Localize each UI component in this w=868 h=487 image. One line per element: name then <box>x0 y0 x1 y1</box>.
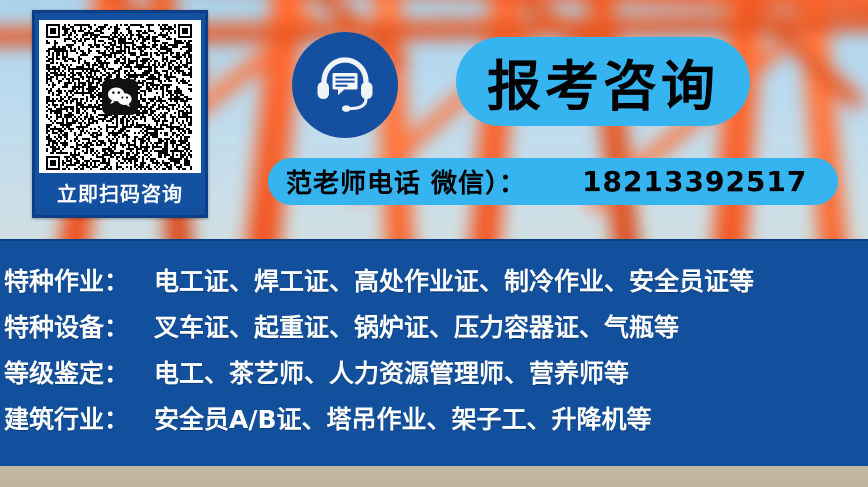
qr-caption: 立即扫码咨询 <box>57 173 183 215</box>
course-list-panel: 特种作业：电工证、焊工证、高处作业证、制冷作业、安全员证等特种设备：叉车证、起重… <box>0 239 868 466</box>
course-category-label: 等级鉴定： <box>4 351 154 397</box>
cta-label: 报考咨询 <box>487 42 719 121</box>
course-items-list: 电工、茶艺师、人力资源管理师、营养师等 <box>154 351 629 397</box>
promo-banner: 立即扫码咨询 报考咨询 范老师电话 微信）： 18213392517 <box>0 0 868 487</box>
cta-button[interactable]: 报考咨询 <box>456 37 750 126</box>
course-category-row: 建筑行业：安全员A/B证、塔吊作业、架子工、升降机等 <box>4 397 868 443</box>
headset-support-icon <box>292 32 398 138</box>
contact-pill[interactable]: 范老师电话 微信）： 18213392517 <box>268 158 838 205</box>
course-category-label: 特种设备： <box>4 305 154 351</box>
course-category-label: 建筑行业： <box>4 397 154 443</box>
course-category-row: 特种设备：叉车证、起重证、锅炉证、压力容器证、气瓶等 <box>4 305 868 351</box>
qr-card[interactable]: 立即扫码咨询 <box>32 10 208 218</box>
bottom-photo-strip <box>0 466 868 487</box>
course-items-list: 叉车证、起重证、锅炉证、压力容器证、气瓶等 <box>154 305 679 351</box>
course-items-list: 安全员A/B证、塔吊作业、架子工、升降机等 <box>154 397 652 443</box>
contact-phone-number[interactable]: 18213392517 <box>582 165 807 198</box>
course-category-row: 特种作业：电工证、焊工证、高处作业证、制冷作业、安全员证等 <box>4 259 868 305</box>
wechat-icon <box>102 79 138 115</box>
qr-code-image[interactable] <box>39 20 201 173</box>
course-category-row: 等级鉴定：电工、茶艺师、人力资源管理师、营养师等 <box>4 351 868 397</box>
course-items-list: 电工证、焊工证、高处作业证、制冷作业、安全员证等 <box>154 259 754 305</box>
course-category-label: 特种作业： <box>4 259 154 305</box>
contact-label: 范老师电话 微信）： <box>286 163 526 200</box>
